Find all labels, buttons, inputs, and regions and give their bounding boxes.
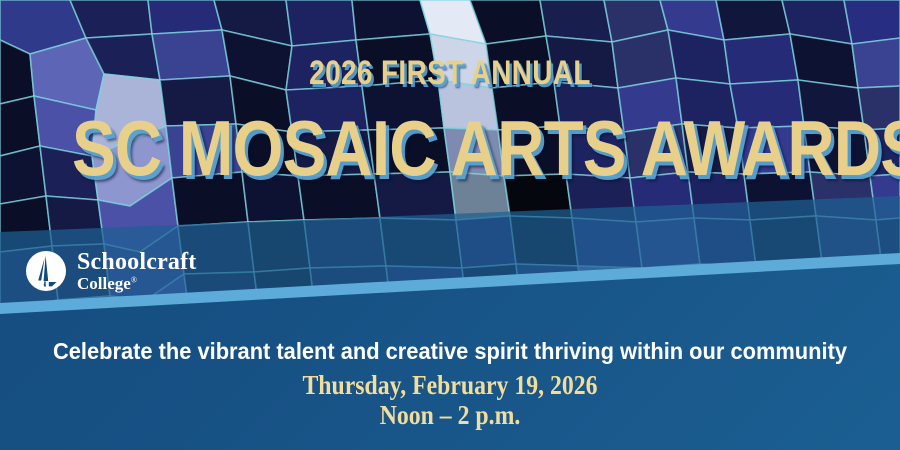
- tagline-text: Celebrate the vibrant talent and creativ…: [23, 338, 878, 365]
- event-banner: 2026 FIRST ANNUAL SC MOSAIC ARTS AWARDS …: [0, 0, 900, 450]
- logo-line-1: Schoolcraft: [77, 250, 197, 274]
- mosaic-tile: [0, 146, 46, 204]
- event-date-text: Thursday, February 19, 2026: [54, 370, 846, 401]
- schoolcraft-college-logo: Schoolcraft College®: [25, 250, 197, 292]
- registered-trademark-mark: ®: [131, 275, 137, 284]
- mosaic-tile: [852, 38, 900, 88]
- headline-text: SC MOSAIC ARTS AWARDS: [72, 103, 828, 194]
- mosaic-tile: [286, 0, 356, 46]
- logo-line-2-text: College: [77, 274, 131, 293]
- sailboat-logo-icon: [25, 250, 67, 292]
- event-time-text: Noon – 2 p.m.: [54, 400, 846, 431]
- logo-wordmark: Schoolcraft College®: [77, 250, 197, 292]
- kicker-text: 2026 FIRST ANNUAL: [81, 54, 819, 93]
- mosaic-tile: [352, 0, 430, 40]
- mosaic-tile: [844, 0, 900, 44]
- logo-line-2: College®: [77, 275, 197, 292]
- mosaic-tile: [148, 0, 222, 34]
- mosaic-tile: [716, 0, 790, 40]
